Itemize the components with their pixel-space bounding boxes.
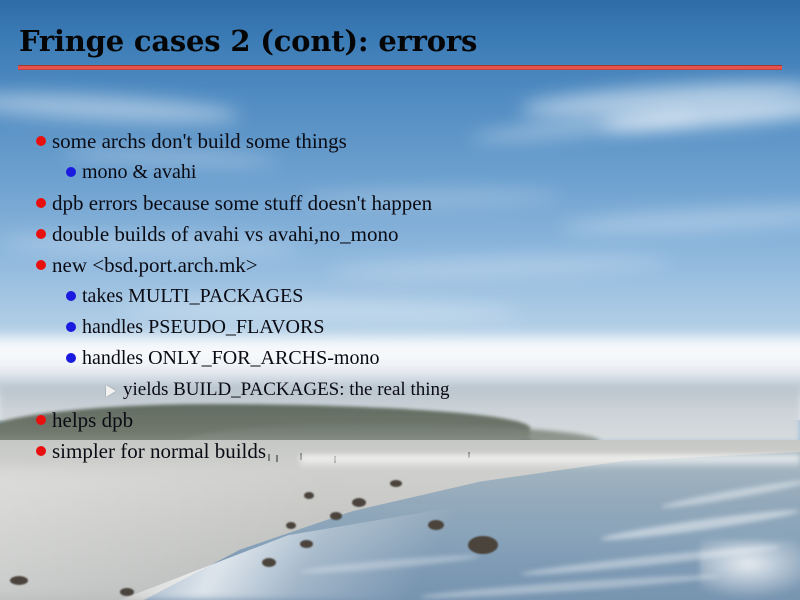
- shore-debris: [286, 522, 296, 529]
- red-disc-bullet-icon: [36, 260, 46, 270]
- list-item: simpler for normal builds: [0, 436, 800, 467]
- shore-debris: [262, 558, 276, 567]
- white-triangle-bullet-icon: [106, 385, 116, 397]
- list-item-label: helps dpb: [52, 405, 133, 436]
- list-item-label: simpler for normal builds: [52, 436, 266, 467]
- red-disc-bullet-icon: [36, 446, 46, 456]
- red-disc-bullet-icon: [36, 198, 46, 208]
- shore-debris: [330, 512, 342, 520]
- presentation-slide: Fringe cases 2 (cont): errors some archs…: [0, 0, 800, 600]
- list-item: handles PSEUDO_FLAVORS: [0, 312, 800, 343]
- slide-title: Fringe cases 2 (cont): errors: [19, 24, 477, 58]
- list-item-label: yields BUILD_PACKAGES: the real thing: [123, 374, 450, 405]
- bullet-list: some archs don't build some things mono …: [0, 126, 800, 467]
- blue-disc-bullet-icon: [66, 353, 76, 363]
- blue-disc-bullet-icon: [66, 167, 76, 177]
- shore-debris: [304, 492, 314, 499]
- list-item: yields BUILD_PACKAGES: the real thing: [0, 374, 800, 405]
- shore-debris: [352, 498, 366, 507]
- list-item-label: mono & avahi: [82, 157, 196, 188]
- shore-debris: [468, 536, 498, 554]
- shore-debris: [300, 540, 313, 548]
- list-item-label: some archs don't build some things: [52, 126, 347, 157]
- red-disc-bullet-icon: [36, 415, 46, 425]
- red-disc-bullet-icon: [36, 136, 46, 146]
- list-item-label: new <bsd.port.arch.mk>: [52, 250, 258, 281]
- list-item-label: double builds of avahi vs avahi,no_mono: [52, 219, 398, 250]
- blue-disc-bullet-icon: [66, 322, 76, 332]
- list-item-label: handles PSEUDO_FLAVORS: [82, 312, 324, 343]
- list-item-label: takes MULTI_PACKAGES: [82, 281, 303, 312]
- list-item: helps dpb: [0, 405, 800, 436]
- list-item: double builds of avahi vs avahi,no_mono: [0, 219, 800, 250]
- blue-disc-bullet-icon: [66, 291, 76, 301]
- title-underline-rule: [18, 65, 782, 70]
- list-item: mono & avahi: [0, 157, 800, 188]
- shore-debris: [428, 520, 444, 530]
- list-item: new <bsd.port.arch.mk>: [0, 250, 800, 281]
- shore-debris: [120, 588, 134, 596]
- list-item: dpb errors because some stuff doesn't ha…: [0, 188, 800, 219]
- red-disc-bullet-icon: [36, 229, 46, 239]
- sea-foam: [700, 540, 800, 600]
- list-item: handles ONLY_FOR_ARCHS-mono: [0, 343, 800, 374]
- list-item: some archs don't build some things: [0, 126, 800, 157]
- list-item: takes MULTI_PACKAGES: [0, 281, 800, 312]
- list-item-label: handles ONLY_FOR_ARCHS-mono: [82, 343, 379, 374]
- shore-debris: [390, 480, 402, 487]
- shore-debris: [10, 576, 28, 585]
- list-item-label: dpb errors because some stuff doesn't ha…: [52, 188, 432, 219]
